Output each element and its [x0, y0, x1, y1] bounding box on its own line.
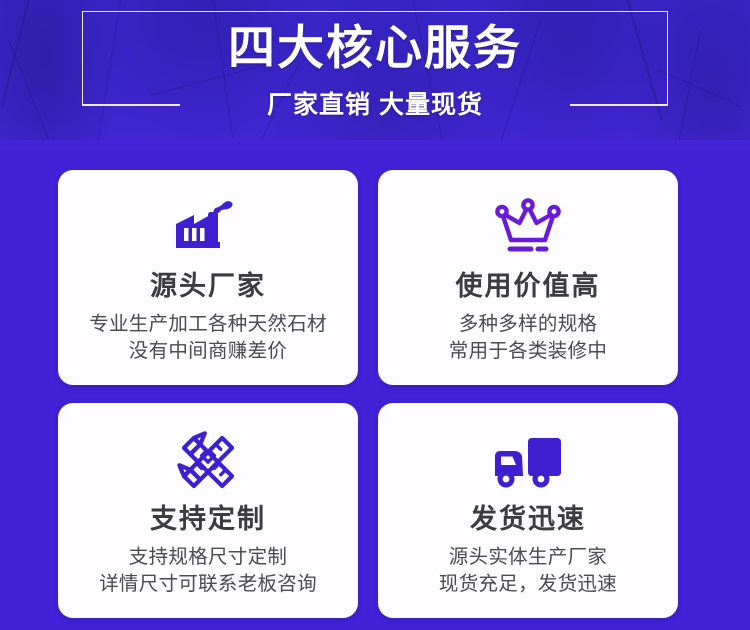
card-description-line-2: 现货充足，发货迅速 [439, 571, 617, 599]
card-description-line-1: 支持规格尺寸定制 [99, 544, 317, 572]
card-description: 多种多样的规格 常用于各类装修中 [449, 311, 607, 366]
card-description-line-2: 常用于各类装修中 [449, 338, 607, 366]
card-description: 支持规格尺寸定制 详情尺寸可联系老板咨询 [99, 544, 317, 599]
header-bottom-band [0, 140, 750, 150]
card-description-line-1: 专业生产加工各种天然石材 [89, 311, 327, 339]
card-description-line-1: 多种多样的规格 [449, 311, 607, 339]
card-title: 使用价值高 [456, 270, 601, 304]
card-title: 支持定制 [150, 503, 266, 537]
card-title: 发货迅速 [470, 503, 586, 537]
card-description: 专业生产加工各种天然石材 没有中间商赚差价 [89, 311, 327, 366]
factory-icon [172, 192, 244, 266]
service-card-shipping[interactable]: 发货迅速 源头实体生产厂家 现货充足，发货迅速 [378, 403, 678, 618]
card-description-line-2: 没有中间商赚差价 [89, 338, 327, 366]
service-card-value[interactable]: 使用价值高 多种多样的规格 常用于各类装修中 [378, 170, 678, 385]
card-description-line-2: 详情尺寸可联系老板咨询 [99, 571, 317, 599]
card-description-line-1: 源头实体生产厂家 [439, 544, 617, 572]
service-card-factory[interactable]: 源头厂家 专业生产加工各种天然石材 没有中间商赚差价 [58, 170, 358, 385]
card-title: 源头厂家 [150, 270, 266, 304]
page-header: 四大核心服务 厂家直销 大量现货 [0, 0, 750, 150]
service-card-grid: 源头厂家 专业生产加工各种天然石材 没有中间商赚差价 使用价值高 多种多样的规格… [58, 170, 678, 618]
card-description: 源头实体生产厂家 现货充足，发货迅速 [439, 544, 617, 599]
page-title: 四大核心服务 [0, 20, 750, 75]
truck-icon [489, 425, 567, 499]
page-subtitle: 厂家直销 大量现货 [0, 90, 750, 120]
service-card-custom[interactable]: 支持定制 支持规格尺寸定制 详情尺寸可联系老板咨询 [58, 403, 358, 618]
crown-icon [491, 192, 565, 266]
ruler-pencil-icon [173, 425, 243, 499]
